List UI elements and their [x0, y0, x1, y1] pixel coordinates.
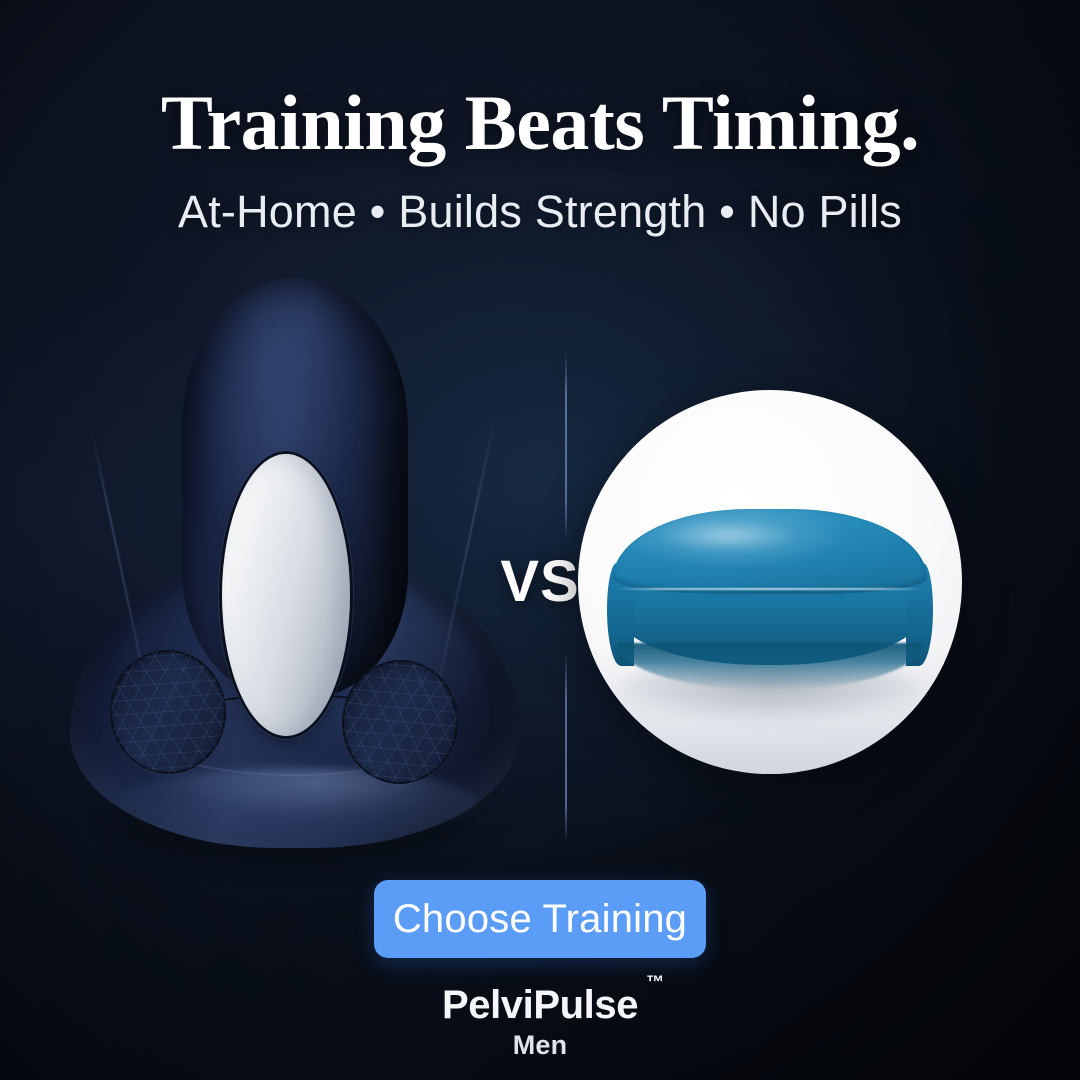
- headline-block: Training Beats Timing. At-Home • Builds …: [0, 84, 1080, 235]
- brand-name-text: PelviPulse: [442, 983, 638, 1027]
- honeycomb-pad-right: [337, 655, 463, 789]
- pill-seam-highlight: [616, 588, 923, 590]
- brand-name: PelviPulse ™: [442, 985, 638, 1025]
- comparison-stage: VS: [0, 270, 1080, 860]
- blue-pill-photo[interactable]: [578, 390, 962, 774]
- brand-logo: PelviPulse ™ Men: [0, 985, 1080, 1059]
- honeycomb-texture: [106, 646, 230, 778]
- page-title: Training Beats Timing.: [0, 84, 1080, 162]
- brand-segment: Men: [0, 1032, 1080, 1059]
- honeycomb-pad-left: [106, 646, 230, 778]
- advertisement-creative: Training Beats Timing. At-Home • Builds …: [0, 0, 1080, 1080]
- honeycomb-texture: [337, 655, 463, 789]
- pill-top-dome: [613, 509, 928, 593]
- pill-specular-highlight: [662, 521, 793, 552]
- divider-line-bottom: [565, 654, 567, 844]
- trademark-symbol: ™: [646, 973, 664, 991]
- choose-training-button[interactable]: Choose Training: [374, 880, 706, 958]
- divider-line-top: [565, 352, 567, 542]
- subtitle: At-Home • Builds Strength • No Pills: [0, 188, 1080, 235]
